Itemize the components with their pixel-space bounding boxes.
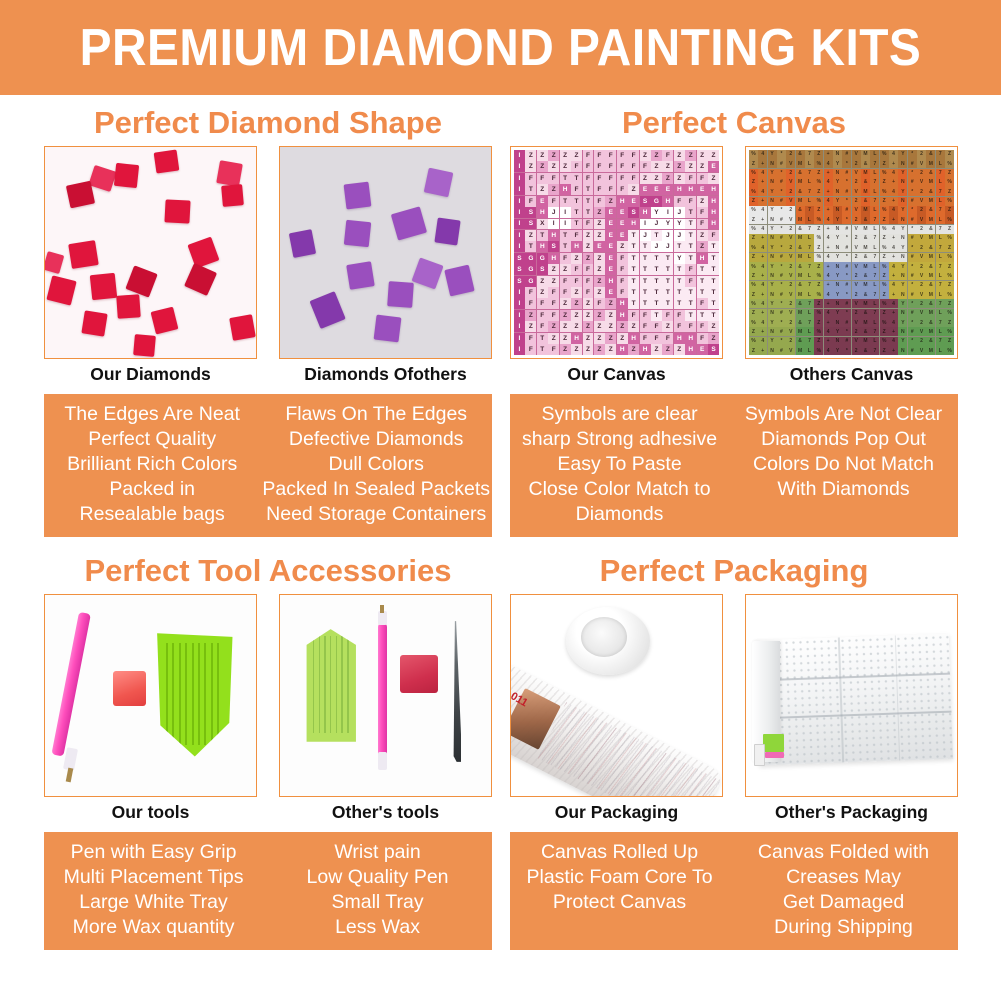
drawbacks-theirs: Flaws On The Edges Defective Diamonds Du…: [260, 394, 492, 537]
benefit-line: The Edges Are Neat: [46, 402, 258, 427]
symbol-grid: IZZZZZFFFFFZZFZZZZIZZZZFFFFFFFZZZZZEIFFF…: [514, 150, 719, 355]
section-tool-accessories: Perfect Tool Accessories: [44, 548, 492, 950]
pen-grip-end: [378, 752, 386, 770]
drawback-line: Diamonds Pop Out: [731, 427, 956, 452]
canvas-tube: S-011: [510, 661, 723, 797]
comparison-text-row: Canvas Rolled Up Plastic Foam Core To Pr…: [510, 832, 958, 950]
drawback-line: Symbols Are Not Clear: [731, 402, 956, 427]
pink-pen: [51, 612, 90, 756]
benefit-line: Canvas Rolled Up: [512, 840, 727, 865]
photo-row: [44, 594, 492, 797]
drawback-line: Defective Diamonds: [262, 427, 490, 452]
benefit-line: Easy To Paste: [512, 452, 727, 477]
section-title: Perfect Packaging: [510, 548, 958, 594]
benefit-line: Symbols are clear: [512, 402, 727, 427]
benefit-line: sharp Strong adhesive: [512, 427, 727, 452]
section-title: Perfect Diamond Shape: [44, 100, 492, 146]
benefits-ours: Canvas Rolled Up Plastic Foam Core To Pr…: [510, 832, 729, 950]
drawback-line: Small Tray: [265, 890, 490, 915]
caption-theirs: Other's Packaging: [745, 802, 958, 823]
benefit-line: More Wax quantity: [46, 915, 261, 940]
caption-ours: Our Canvas: [510, 364, 723, 385]
benefits-ours: The Edges Are Neat Perfect Quality Brill…: [44, 394, 260, 537]
bubble-mailer: [754, 634, 952, 765]
section-canvas: Perfect Canvas IZZZZZFFFFFZZFZZZZIZZZZFF…: [510, 100, 958, 537]
drawback-line: With Diamonds: [731, 477, 956, 502]
header-banner: PREMIUM DIAMOND PAINTING KITS: [0, 0, 1001, 95]
benefits-ours: Symbols are clear sharp Strong adhesive …: [510, 394, 729, 537]
benefit-line: Packed in: [46, 477, 258, 502]
red-square-diamond-drills-photo: [44, 146, 257, 359]
drawbacks-theirs: Symbols Are Not Clear Diamonds Pop Out C…: [729, 394, 958, 537]
light-green-tray: [299, 629, 362, 742]
drawback-line: Creases May: [731, 865, 956, 890]
small-tray-pen-wax-tweezers-photo: [279, 594, 492, 797]
pen-tip: [378, 611, 386, 625]
caption-theirs: Other's tools: [279, 802, 492, 823]
benefit-line: Pen with Easy Grip: [46, 840, 261, 865]
bubble-texture: [754, 634, 952, 765]
caption-ours: Our Packaging: [510, 802, 723, 823]
benefit-line: Resealable bags: [46, 502, 258, 527]
drawback-line: Packed In Sealed Packets: [262, 477, 490, 502]
drawback-line: Colors Do Not Match: [731, 452, 956, 477]
benefit-line: Plastic Foam Core To: [512, 865, 727, 890]
folded-bubble-mailer-photo: [745, 594, 958, 797]
section-title: Perfect Tool Accessories: [44, 548, 492, 594]
caption-ours: Our Diamonds: [44, 364, 257, 385]
section-packaging: Perfect Packaging S-011: [510, 548, 958, 950]
benefit-line: Diamonds: [512, 502, 727, 527]
green-tray-peek: [763, 734, 784, 752]
red-wax-square: [400, 655, 438, 693]
caption-row: Our tools Other's tools: [44, 802, 492, 823]
benefit-line: Large White Tray: [46, 890, 261, 915]
pink-symbol-grid-canvas-photo: IZZZZZFFFFFZZFZZZZIZZZZFFFFFFFZZZZZEIFFF…: [510, 146, 723, 359]
muddy-symbol-grid: %4Y*2&7Z+N#VML%4Y*2&7ZZ+N#VML%4Y*2&7Z+N#…: [749, 150, 954, 355]
drawback-line: Wrist pain: [265, 840, 490, 865]
caption-row: Our Canvas Others Canvas: [510, 364, 958, 385]
drawbacks-theirs: Canvas Folded with Creases May Get Damag…: [729, 832, 958, 950]
section-diamond-shape: Perfect Diamond Shape: [44, 100, 492, 537]
pink-pen-wax-green-tray-photo: [44, 594, 257, 797]
end-cap-inner: [581, 617, 627, 657]
purple-deformed-diamond-drills-photo: [279, 146, 492, 359]
caption-theirs: Others Canvas: [745, 364, 958, 385]
muddy-color-grid-canvas-photo: %4Y*2&7Z+N#VML%4Y*2&7ZZ+N#VML%4Y*2&7Z+N#…: [745, 146, 958, 359]
comparison-text-row: Symbols are clear sharp Strong adhesive …: [510, 394, 958, 537]
pink-pen: [378, 623, 386, 758]
benefit-line: Protect Canvas: [512, 890, 727, 915]
drawback-line: Flaws On The Edges: [262, 402, 490, 427]
benefits-ours: Pen with Easy Grip Multi Placement Tips …: [44, 832, 263, 950]
drawback-line: Low Quality Pen: [265, 865, 490, 890]
photo-row: S-011: [510, 594, 958, 797]
caption-theirs: Diamonds Ofothers: [279, 364, 492, 385]
drawbacks-theirs: Wrist pain Low Quality Pen Small Tray Le…: [263, 832, 492, 950]
page-title: PREMIUM DIAMOND PAINTING KITS: [80, 18, 922, 78]
caption-ours: Our tools: [44, 802, 257, 823]
photo-row: [44, 146, 492, 359]
caption-row: Our Diamonds Diamonds Ofothers: [44, 364, 492, 385]
pink-pen-peek: [765, 752, 784, 758]
benefit-line: Close Color Match to: [512, 477, 727, 502]
photo-row: IZZZZZFFFFFZZFZZZZIZZZZFFFFFFFZZZZZEIFFF…: [510, 146, 958, 359]
packet-peek: [754, 744, 765, 766]
drawback-line: Need Storage Containers: [262, 502, 490, 527]
pink-wax-square: [113, 671, 147, 705]
drawback-line: Dull Colors: [262, 452, 490, 477]
infographic-page: PREMIUM DIAMOND PAINTING KITS Perfect Di…: [0, 0, 1001, 1001]
rolled-canvas-tube-photo: S-011: [510, 594, 723, 797]
pen-metal-tip: [66, 768, 73, 783]
benefit-line: Multi Placement Tips: [46, 865, 261, 890]
comparison-text-row: The Edges Are Neat Perfect Quality Brill…: [44, 394, 492, 537]
pen-metal-tip: [380, 605, 384, 613]
comparison-text-row: Pen with Easy Grip Multi Placement Tips …: [44, 832, 492, 950]
drawback-line: Less Wax: [265, 915, 490, 940]
drawback-line: During Shipping: [731, 915, 956, 940]
drawback-line: Get Damaged: [731, 890, 956, 915]
tweezers: [449, 621, 462, 762]
caption-row: Our Packaging Other's Packaging: [510, 802, 958, 823]
benefit-line: Brilliant Rich Colors: [46, 452, 258, 477]
drawback-line: Canvas Folded with: [731, 840, 956, 865]
section-title: Perfect Canvas: [510, 100, 958, 146]
green-tray: [155, 633, 235, 758]
benefit-line: Perfect Quality: [46, 427, 258, 452]
